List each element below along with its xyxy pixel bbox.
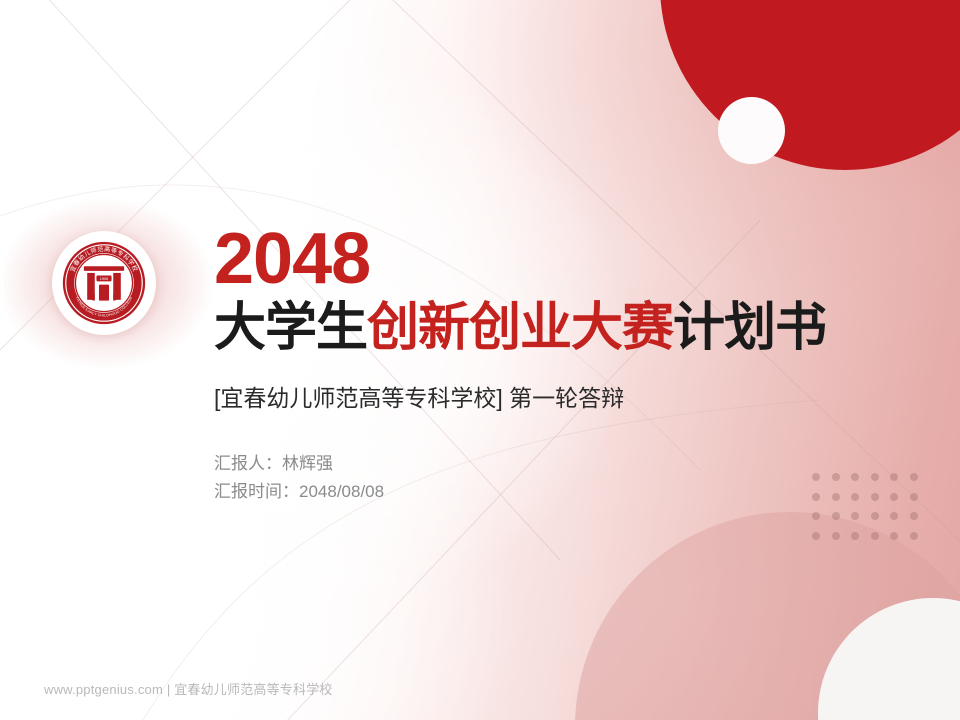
grid-dot: [812, 532, 820, 540]
slide-footer: www.pptgenius.com | 宜春幼儿师范高等专科学校: [44, 679, 333, 698]
university-emblem-icon: 宜春幼儿师范高等专科学校 YICHUN EARLY CHILDHOOD COLL…: [62, 241, 146, 325]
emblem-year: 1906: [100, 277, 109, 281]
title-part-2-highlight: 创新创业大赛: [367, 299, 673, 357]
grid-dot: [890, 532, 898, 540]
grid-dot: [812, 512, 820, 520]
grid-dot: [832, 532, 840, 540]
grid-dot: [910, 532, 918, 540]
grid-dot: [832, 512, 840, 520]
presenter-line: 汇报人：林辉强: [214, 450, 914, 478]
grid-dot: [851, 512, 859, 520]
title-part-3: 计划书: [673, 299, 826, 357]
grid-dot: [910, 512, 918, 520]
grid-dot: [890, 512, 898, 520]
slide-year: 2048: [214, 222, 914, 296]
slide-meta: 汇报人：林辉强 汇报时间：2048/08/08: [214, 450, 914, 506]
date-line: 汇报时间：2048/08/08: [214, 478, 914, 506]
title-block: 2048 大学生创新创业大赛计划书 [宜春幼儿师范高等专科学校] 第一轮答辩 汇…: [214, 222, 914, 506]
grid-dot: [871, 532, 879, 540]
presentation-slide: 宜春幼儿师范高等专科学校 YICHUN EARLY CHILDHOOD COLL…: [0, 0, 960, 720]
white-circle-accent: [718, 97, 785, 164]
grid-dot: [851, 532, 859, 540]
slide-main-title: 大学生创新创业大赛计划书: [214, 298, 914, 358]
grid-dot: [871, 512, 879, 520]
title-part-1: 大学生: [214, 299, 367, 357]
slide-subtitle: [宜春幼儿师范高等专科学校] 第一轮答辩: [214, 382, 914, 414]
